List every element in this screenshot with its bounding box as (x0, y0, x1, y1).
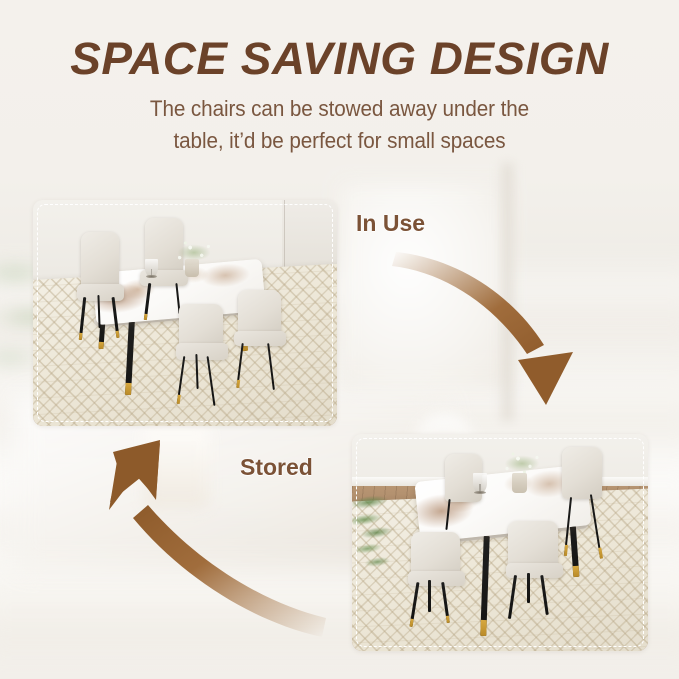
chair-leg (236, 343, 244, 388)
vase (185, 259, 199, 277)
glass-goblet (145, 259, 157, 277)
chair-front-left (176, 304, 231, 408)
background-vase (143, 428, 211, 509)
label-stored: Stored (240, 453, 313, 481)
wall-right (282, 200, 337, 272)
chair-back-right (559, 447, 609, 560)
chair-leg (527, 573, 529, 603)
goblet-base (474, 491, 485, 494)
background-wall-edge (499, 163, 516, 421)
subtitle-line-2: table, it’d be perfect for small spaces (20, 125, 658, 157)
chair-front-right (234, 290, 289, 392)
label-in-use: In Use (356, 209, 425, 237)
chair-leg (590, 495, 602, 560)
chair-leg (177, 356, 186, 404)
chair-leg (564, 497, 572, 556)
chair-front-left (408, 532, 467, 630)
in-use-photo (33, 200, 337, 426)
chair-front-right (506, 521, 565, 621)
wall-corner (284, 200, 285, 268)
chair-leg (111, 297, 119, 338)
goblet-base (146, 275, 156, 278)
in-use-scene (33, 200, 337, 426)
subtitle-line-1: The chairs can be stowed away under the (150, 96, 529, 121)
chair-leg (441, 582, 449, 623)
chair-leg (540, 575, 548, 615)
chair-leg (206, 356, 215, 406)
chair-leg (143, 282, 150, 319)
chair-back (562, 447, 602, 499)
chair-back (508, 521, 558, 569)
stored-photo (352, 434, 648, 651)
chair-leg (409, 582, 419, 627)
chair-leg (508, 575, 517, 619)
heading-block: SPACE SAVING DESIGN The chairs can be st… (0, 34, 679, 157)
chair-back (81, 232, 119, 291)
page-title: SPACE SAVING DESIGN (0, 34, 679, 84)
chair-back-left (76, 232, 128, 340)
glass-goblet (473, 473, 486, 493)
vase (512, 473, 527, 493)
chair-leg (428, 580, 430, 611)
chair-leg (446, 499, 451, 530)
stored-scene (352, 434, 648, 651)
chair-leg (267, 343, 275, 390)
chair-leg (78, 297, 85, 340)
page-subtitle: The chairs can be stowed away under the … (20, 93, 658, 157)
